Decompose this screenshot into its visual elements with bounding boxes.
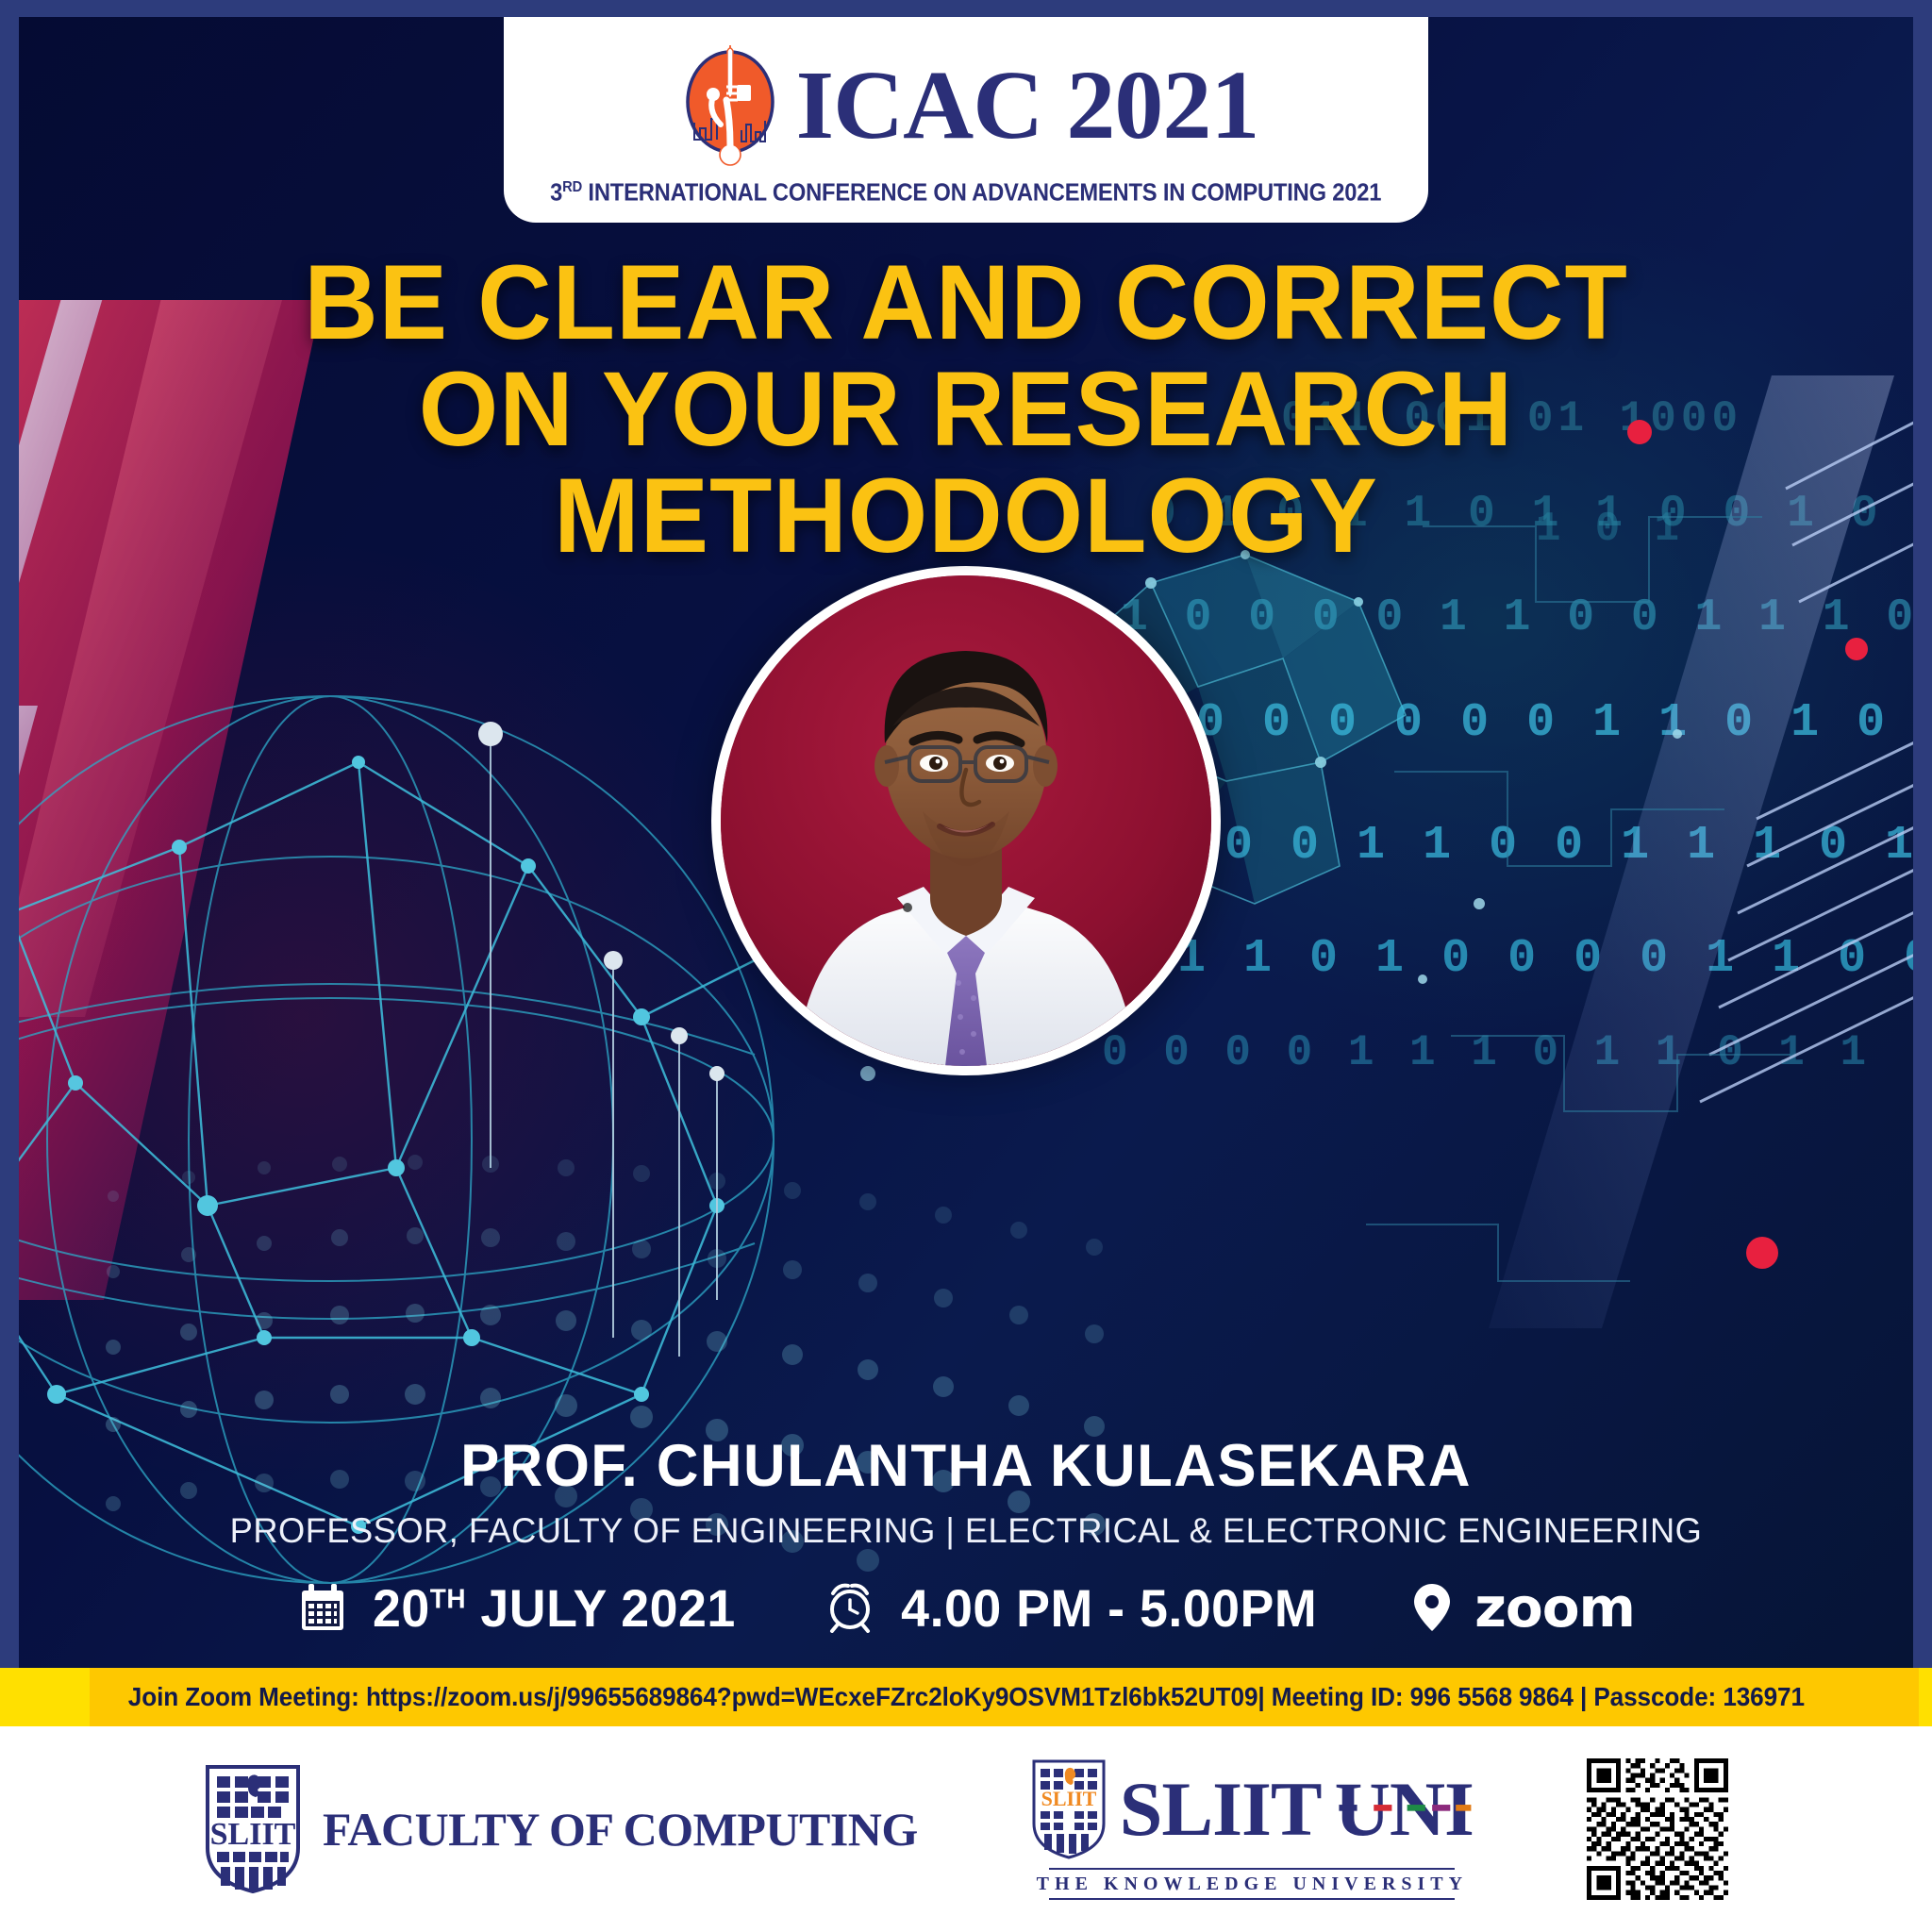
headline-line-1: BE CLEAR AND CORRECT	[129, 249, 1802, 356]
zoom-meeting-text: Join Zoom Meeting: https://zoom.us/j/996…	[127, 1682, 1804, 1712]
conference-poster: 011 001 01 1000 0 1 0 1 1 0 1 1 0 0 1 0 …	[0, 0, 1932, 1932]
speaker-role: PROFESSOR, FACULTY OF ENGINEERING | ELEC…	[38, 1511, 1894, 1551]
headline-line-2: ON YOUR RESEARCH	[129, 356, 1802, 462]
icac-logo-plate: ICAC 2021 3RD INTERNATIONAL CONFERENCE O…	[504, 17, 1428, 223]
sliit-uni-row: SLIIT SLIIT UNI	[1031, 1758, 1474, 1860]
uni-tagline: THE KNOWLEDGE UNIVERSITY	[1037, 1874, 1468, 1895]
sliit-wordmark: SLIIT	[1120, 1773, 1322, 1846]
event-date: 20TH JULY 2021	[297, 1577, 743, 1639]
poster-canvas: 011 001 01 1000 0 1 0 1 1 0 1 1 0 0 1 0 …	[19, 17, 1913, 1668]
logo-row: ICAC 2021	[674, 43, 1259, 168]
uni-tagline-rule: THE KNOWLEDGE UNIVERSITY	[1049, 1868, 1455, 1900]
event-time: 4.00 PM - 5.00PM	[824, 1577, 1325, 1639]
event-meta-row: 20TH JULY 2021 4.00 PM - 5.00PM	[19, 1575, 1913, 1640]
location-pin-icon	[1407, 1582, 1457, 1633]
icac-logo-text: ICAC 2021	[796, 57, 1259, 155]
icac-logo-subtitle: 3RD INTERNATIONAL CONFERENCE ON ADVANCEM…	[550, 179, 1381, 208]
headline-line-3: METHODOLOGY	[129, 462, 1802, 569]
zoom-meeting-bar[interactable]: Join Zoom Meeting: https://zoom.us/j/996…	[0, 1668, 1932, 1726]
faculty-of-computing-logo: SLIIT FACULTY OF COMPUTING	[204, 1763, 918, 1895]
headline: BE CLEAR AND CORRECT ON YOUR RESEARCH ME…	[19, 249, 1913, 569]
uni-wordmark: UNI	[1335, 1773, 1474, 1846]
event-platform-text: zoom	[1474, 1575, 1635, 1640]
svg-text:SLIIT: SLIIT	[1041, 1787, 1096, 1810]
footer-logos: SLIIT FACULTY OF COMPUTING	[0, 1726, 1932, 1932]
uni-color-ticks-icon	[1335, 1802, 1474, 1813]
sliit-uni-crest-icon: SLIIT	[1031, 1758, 1107, 1860]
faculty-of-computing-label: FACULTY OF COMPUTING	[323, 1802, 918, 1857]
event-time-text: 4.00 PM - 5.00PM	[901, 1577, 1317, 1639]
speaker-name: PROF. CHULANTHA KULASEKARA	[38, 1432, 1894, 1500]
event-platform: zoom	[1407, 1575, 1635, 1640]
svg-text:SLIIT: SLIIT	[210, 1817, 296, 1852]
calendar-icon	[297, 1582, 348, 1633]
qr-code[interactable]	[1587, 1758, 1728, 1900]
event-date-text: 20TH JULY 2021	[373, 1577, 736, 1639]
speaker-avatar	[711, 566, 1221, 1075]
alarm-clock-icon	[824, 1582, 875, 1633]
sliit-crest-icon: SLIIT	[204, 1763, 302, 1895]
speaker-photo	[721, 575, 1211, 1066]
sliit-uni-logo: SLIIT SLIIT UNI	[1031, 1758, 1474, 1900]
dot-grid-decoration	[57, 1083, 1170, 1574]
icac-logo-icon	[674, 43, 787, 168]
